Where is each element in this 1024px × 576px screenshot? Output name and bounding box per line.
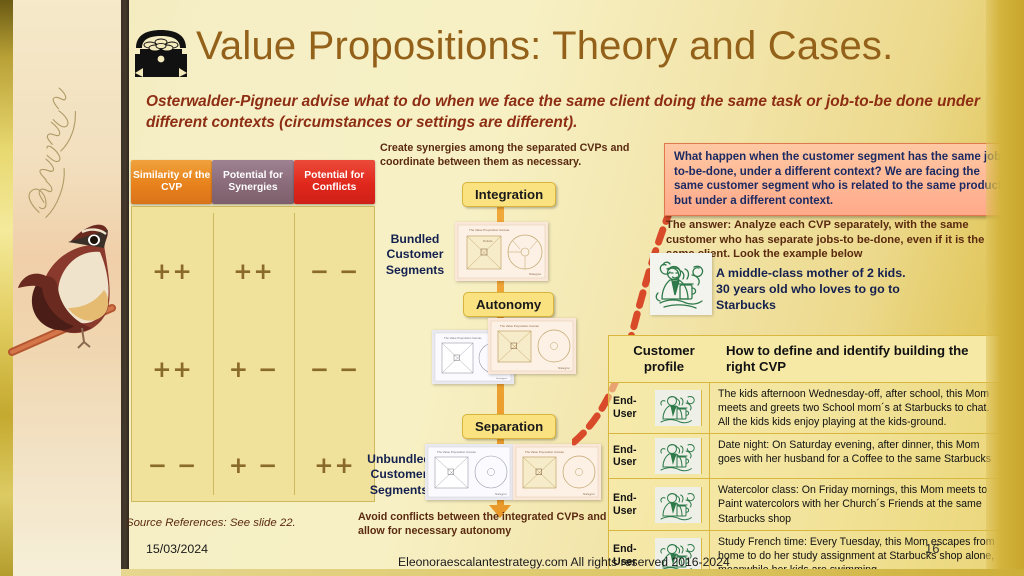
svg-text:The Value Proposition Canvas: The Value Proposition Canvas: [437, 450, 476, 454]
svg-text:Products: Products: [483, 240, 493, 243]
matrix-col-synergies: Potential for Synergies: [212, 160, 293, 204]
mom-coffee-icon: [650, 253, 712, 315]
svg-text:Strategyzer: Strategyzer: [496, 377, 507, 380]
question-callout: What happen when the customer segment ha…: [664, 143, 1020, 216]
page-number: 16: [925, 541, 939, 556]
svg-text:The Value Proposition Canvas: The Value Proposition Canvas: [500, 324, 539, 328]
vp-canvas-thumbnail-separation-left: The Value Proposition Canvas Strategyzer: [425, 444, 513, 500]
flow-stage-separation[interactable]: Separation: [462, 414, 556, 439]
table-row[interactable]: End-User Watercolor class: On Friday mor…: [609, 479, 1007, 531]
source-reference: Source References: See slide 22.: [126, 517, 296, 529]
answer-text: The answer: Analyze each CVP separately,…: [666, 218, 996, 262]
flow-caption-top: Create synergies among the separated CVP…: [380, 142, 630, 170]
flow-stage-integration[interactable]: Integration: [462, 182, 556, 207]
cvp-matrix: Similarity of the CVP Potential for Syne…: [131, 160, 375, 501]
table-header-row: Customer profile How to define and ident…: [609, 336, 1007, 383]
left-artwork-panel: [0, 0, 121, 576]
vp-canvas-thumbnail-autonomy-right: The Value Proposition Canvas Strategyzer: [488, 318, 576, 374]
panel-divider: [121, 0, 129, 576]
matrix-cell-r1c3: − −: [294, 259, 375, 285]
page-title: Value Propositions: Theory and Cases.: [196, 24, 893, 69]
profile-label: End-User: [613, 395, 655, 420]
svg-text:The Value Proposition Canvas: The Value Proposition Canvas: [525, 450, 564, 454]
svg-text:Strategyzer: Strategyzer: [583, 493, 595, 496]
page-subtitle: Osterwalder-Pigneur advise what to do wh…: [146, 92, 986, 134]
table-cell-profile: End-User: [609, 383, 709, 434]
mom-coffee-icon: [655, 487, 702, 523]
svg-text:Strategyzer: Strategyzer: [558, 367, 570, 370]
profile-label: End-User: [613, 444, 655, 469]
segment-label-bundled: Bundled Customer Segments: [376, 232, 454, 278]
matrix-cell-r2c1: ++: [132, 357, 213, 383]
table-cell-description: Watercolor class: On Friday mornings, th…: [709, 479, 1007, 530]
matrix-cell-r2c2: + −: [213, 357, 294, 383]
svg-text:The Value Proposition Canvas: The Value Proposition Canvas: [444, 336, 482, 340]
profile-label: End-User: [613, 492, 655, 517]
matrix-cell-r3c1: − −: [132, 453, 213, 479]
matrix-col-conflicts: Potential for Conflicts: [294, 160, 375, 204]
svg-text:The Value Proposition Canvas: The Value Proposition Canvas: [469, 228, 510, 232]
slide-canvas: Value Propositions: Theory and Cases. Os…: [0, 0, 1024, 576]
flow-caption-bottom: Avoid conflicts between the integrated C…: [358, 511, 608, 539]
table-col-customer-profile: Customer profile: [609, 336, 719, 382]
matrix-col-similarity: Similarity of the CVP: [131, 160, 212, 204]
flow-stage-autonomy[interactable]: Autonomy: [463, 292, 554, 317]
matrix-header-row: Similarity of the CVP Potential for Syne…: [131, 160, 375, 204]
vp-canvas-thumbnail-separation-right: The Value Proposition Canvas Strategyzer: [513, 444, 601, 500]
vp-canvas-thumbnail-integration: The Value Proposition Canvas Products St…: [455, 222, 548, 281]
bottom-gold-band: [121, 569, 1024, 576]
matrix-cell-r1c1: ++: [132, 259, 213, 285]
table-row[interactable]: End-User The kids afternoon Wednesday-of…: [609, 383, 1007, 435]
table-cell-description: Date night: On Saturday evening, after d…: [709, 434, 1007, 478]
mom-coffee-icon: [655, 390, 702, 426]
matrix-cell-r1c2: ++: [213, 259, 294, 285]
customer-profile-table: Customer profile How to define and ident…: [608, 335, 1008, 576]
table-cell-profile: End-User: [609, 479, 709, 530]
wren-bird-illustration: [8, 200, 120, 380]
table-cell-description: The kids afternoon Wednesday-off, after …: [709, 383, 1007, 434]
right-gold-band: [986, 0, 1024, 576]
table-col-cvp-howto: How to define and identify building the …: [719, 336, 1007, 382]
svg-text:Strategyzer: Strategyzer: [495, 493, 507, 496]
svg-text:Strategyzer: Strategyzer: [529, 273, 541, 276]
matrix-body: ++ ++ − − ++ + − − − − − + − ++: [131, 206, 375, 502]
treasure-chest-icon: [130, 28, 192, 80]
mom-coffee-icon: [655, 438, 702, 474]
copyright-notice: Eleonoraescalantestrategy.com All rights…: [398, 555, 730, 569]
matrix-cell-r2c3: − −: [294, 357, 375, 383]
table-row[interactable]: End-User Date night: On Saturday evening…: [609, 434, 1007, 479]
persona-caption: A middle-class mother of 2 kids. 30 year…: [716, 266, 916, 314]
slide-date: 15/03/2024: [146, 542, 208, 556]
matrix-cell-r3c2: + −: [213, 453, 294, 479]
table-cell-profile: End-User: [609, 434, 709, 478]
